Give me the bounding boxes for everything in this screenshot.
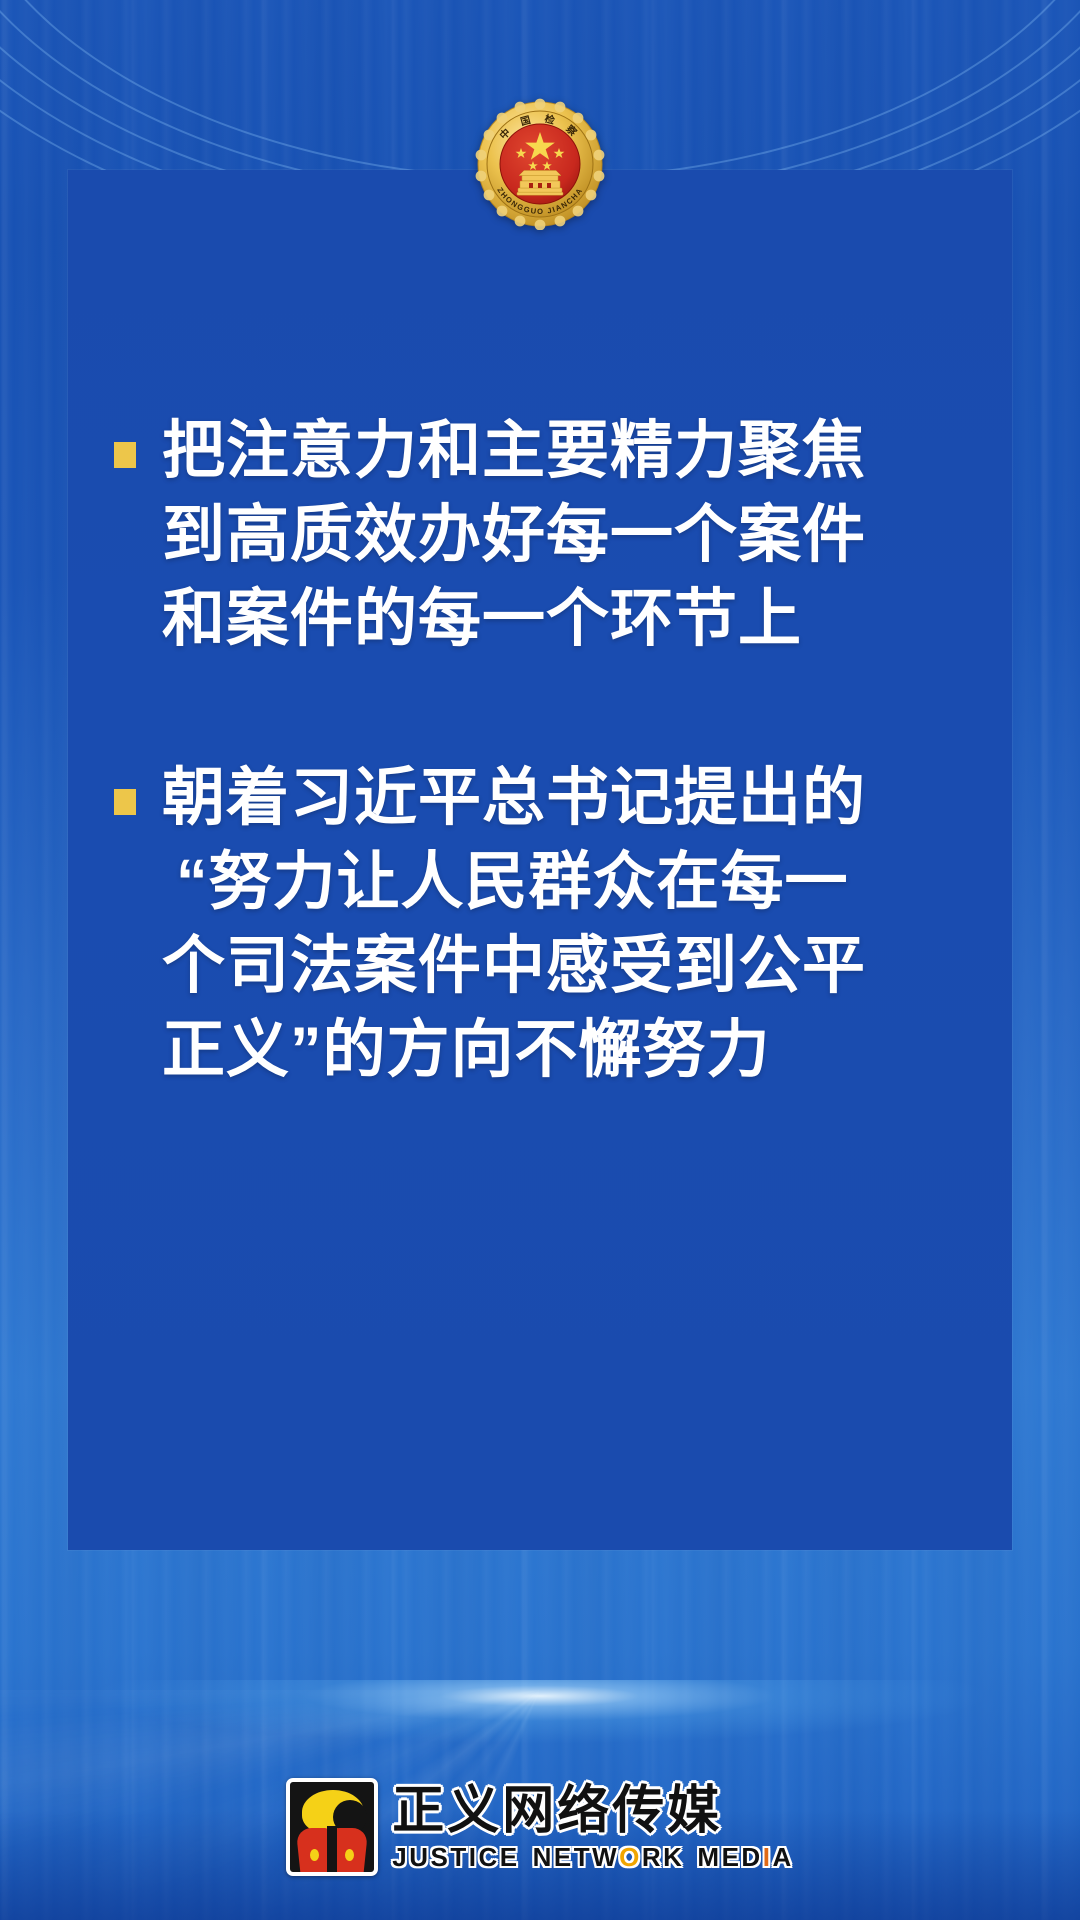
bullet-1-line-2: 到高质效办好每一个案件 <box>162 494 966 578</box>
bullet-block-2: 朝着习近平总书记提出的 “努力让人民群众在每一 个司法案件中感受到公平 正义”的… <box>114 757 966 1092</box>
footer-brand-en: JUSTICE NETWORK MEDIA <box>392 1844 793 1870</box>
bullet-1-line-3: 和案件的每一个环节上 <box>162 578 966 662</box>
bullet-block-1: 把注意力和主要精力聚焦 到高质效办好每一个案件 和案件的每一个环节上 <box>114 410 966 661</box>
bullet-1-lines: 把注意力和主要精力聚焦 到高质效办好每一个案件 和案件的每一个环节上 <box>162 410 966 661</box>
bullet-2-line-1: 朝着习近平总书记提出的 <box>162 757 966 841</box>
justice-network-media-logo-icon <box>286 1778 378 1876</box>
bullet-2-lines: 朝着习近平总书记提出的 “努力让人民群众在每一 个司法案件中感受到公平 正义”的… <box>162 757 966 1092</box>
bullet-2-line-4: 正义”的方向不懈努力 <box>162 1009 966 1093</box>
footer-brand-en-word-3: MEDIA <box>697 1844 793 1870</box>
footer-brand: 正义网络传媒 JUSTICE NETWORK MEDIA <box>0 1778 1080 1876</box>
main-content: 把注意力和主要精力聚焦 到高质效办好每一个案件 和案件的每一个环节上 朝着习近平… <box>68 170 1012 1550</box>
bullet-1-line-1: 把注意力和主要精力聚焦 <box>162 410 966 494</box>
square-bullet-icon <box>114 789 136 815</box>
square-bullet-icon <box>114 442 136 468</box>
poster-root: 中 国 检 察 ZHONGGUO JIANCHA 把注意力和主要精力聚焦 到高质… <box>0 0 1080 1920</box>
footer-brand-en-word-2: NETWORK <box>533 1844 685 1870</box>
bullet-2-line-3: 个司法案件中感受到公平 <box>162 925 966 1009</box>
bullet-2-line-2: “努力让人民群众在每一 <box>162 841 966 925</box>
china-procuratorate-emblem-icon: 中 国 检 察 ZHONGGUO JIANCHA <box>474 98 606 230</box>
footer-brand-text: 正义网络传媒 JUSTICE NETWORK MEDIA <box>392 1784 793 1870</box>
emblem-container: 中 国 检 察 ZHONGGUO JIANCHA <box>0 98 1080 230</box>
footer-brand-en-word-1: JUSTICE <box>392 1844 519 1870</box>
footer-brand-cn: 正义网络传媒 <box>392 1784 793 1839</box>
